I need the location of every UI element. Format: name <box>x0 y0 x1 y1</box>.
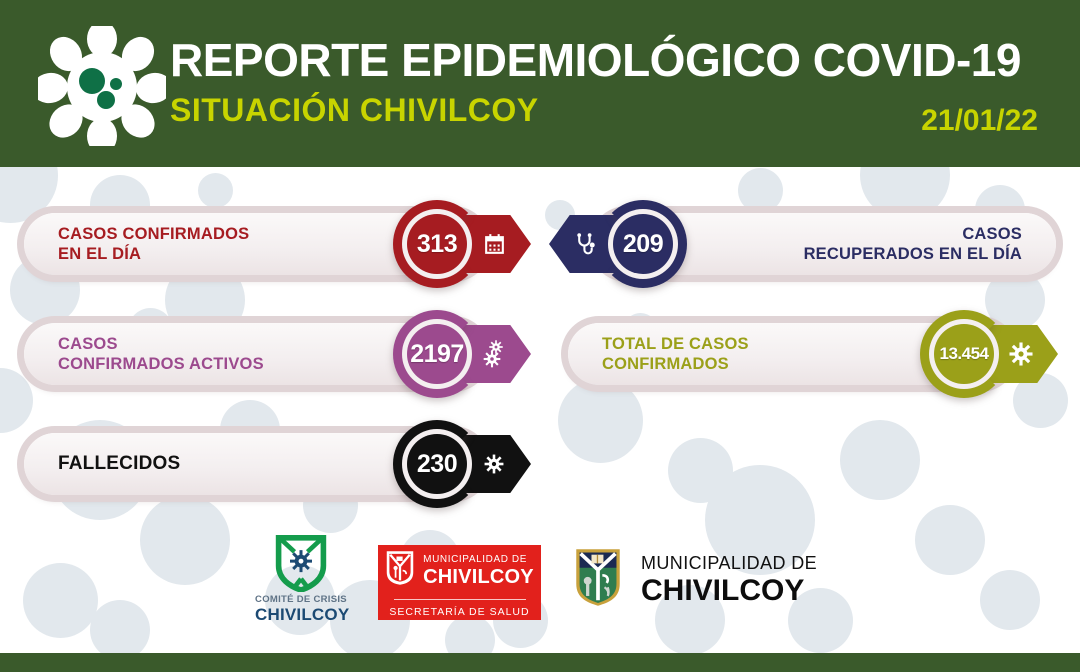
muni-logo-line1: MUNICIPALIDAD DE <box>641 553 817 574</box>
badge-value-disc: 230 <box>407 434 467 494</box>
muni-logo-line2: CHIVILCOY <box>641 574 817 607</box>
page-subtitle: SITUACIÓN CHIVILCOY <box>170 90 1021 130</box>
stat-badge: 230 <box>393 420 481 508</box>
stat-value: 313 <box>417 230 457 259</box>
report-header: REPORTE EPIDEMIOLÓGICO COVID-19 SITUACIÓ… <box>0 0 1080 167</box>
footer-logos: COMITÉ DE CRISIS CHIVILCOY MUNICIPALIDAD… <box>0 528 1080 638</box>
stat-value: 230 <box>417 450 457 479</box>
badge-value-disc: 209 <box>613 214 673 274</box>
card-label: CASOS CONFIRMADOS ACTIVOS <box>58 323 264 385</box>
stat-value: 13.454 <box>940 344 989 364</box>
crisis-logo-line2: CHIVILCOY <box>255 605 347 624</box>
salud-logo-line3: SECRETARÍA DE SALUD <box>389 606 529 618</box>
stat-badge: 209 <box>599 200 687 288</box>
shield-virus-icon <box>255 534 347 592</box>
stat-value: 2197 <box>410 340 464 369</box>
badge-value-disc: 313 <box>407 214 467 274</box>
bottom-bar <box>0 653 1080 672</box>
crisis-logo-line1: COMITÉ DE CRISIS <box>255 594 347 605</box>
stat-badge: 13.454 <box>920 310 1008 398</box>
stat-badge: 313 <box>393 200 481 288</box>
salud-logo-line2: CHIVILCOY <box>423 566 534 588</box>
divider <box>394 599 526 600</box>
chivilcoy-crest-icon <box>385 549 415 592</box>
logo-municipalidad: MUNICIPALIDAD DE CHIVILCOY <box>573 546 817 614</box>
card-label: CASOS CONFIRMADOS EN EL DÍA <box>58 213 249 275</box>
salud-logo-line1: MUNICIPALIDAD DE <box>423 554 534 566</box>
stat-value: 209 <box>623 230 663 259</box>
stat-card-casos-recuperados-dia: CASOS RECUPERADOS EN EL DÍA 209 <box>540 213 1056 275</box>
chivilcoy-crest-icon <box>573 546 623 614</box>
badge-value-disc: 13.454 <box>934 324 994 384</box>
stat-card-casos-confirmados-dia: CASOS CONFIRMADOS EN EL DÍA 313 <box>24 213 529 275</box>
stat-card-fallecidos: FALLECIDOS 230 <box>24 433 529 495</box>
card-label: TOTAL DE CASOS CONFIRMADOS <box>602 323 749 385</box>
stat-badge: 2197 <box>393 310 481 398</box>
card-label: CASOS RECUPERADOS EN EL DÍA <box>804 213 1022 275</box>
card-label: FALLECIDOS <box>58 433 180 495</box>
header-titles: REPORTE EPIDEMIOLÓGICO COVID-19 SITUACIÓ… <box>170 34 1021 130</box>
badge-value-disc: 2197 <box>407 324 467 384</box>
page-title: REPORTE EPIDEMIOLÓGICO COVID-19 <box>170 34 1021 86</box>
logo-comite-de-crisis: COMITÉ DE CRISIS CHIVILCOY <box>255 534 347 624</box>
virus-icon <box>38 26 166 146</box>
stat-card-total-confirmados: TOTAL DE CASOS CONFIRMADOS 13.454 <box>568 323 1056 385</box>
stat-card-casos-activos: CASOS CONFIRMADOS ACTIVOS <box>24 323 529 385</box>
report-date: 21/01/22 <box>921 104 1038 138</box>
logo-secretaria-de-salud: MUNICIPALIDAD DE CHIVILCOY SECRETARÍA DE… <box>378 545 541 620</box>
